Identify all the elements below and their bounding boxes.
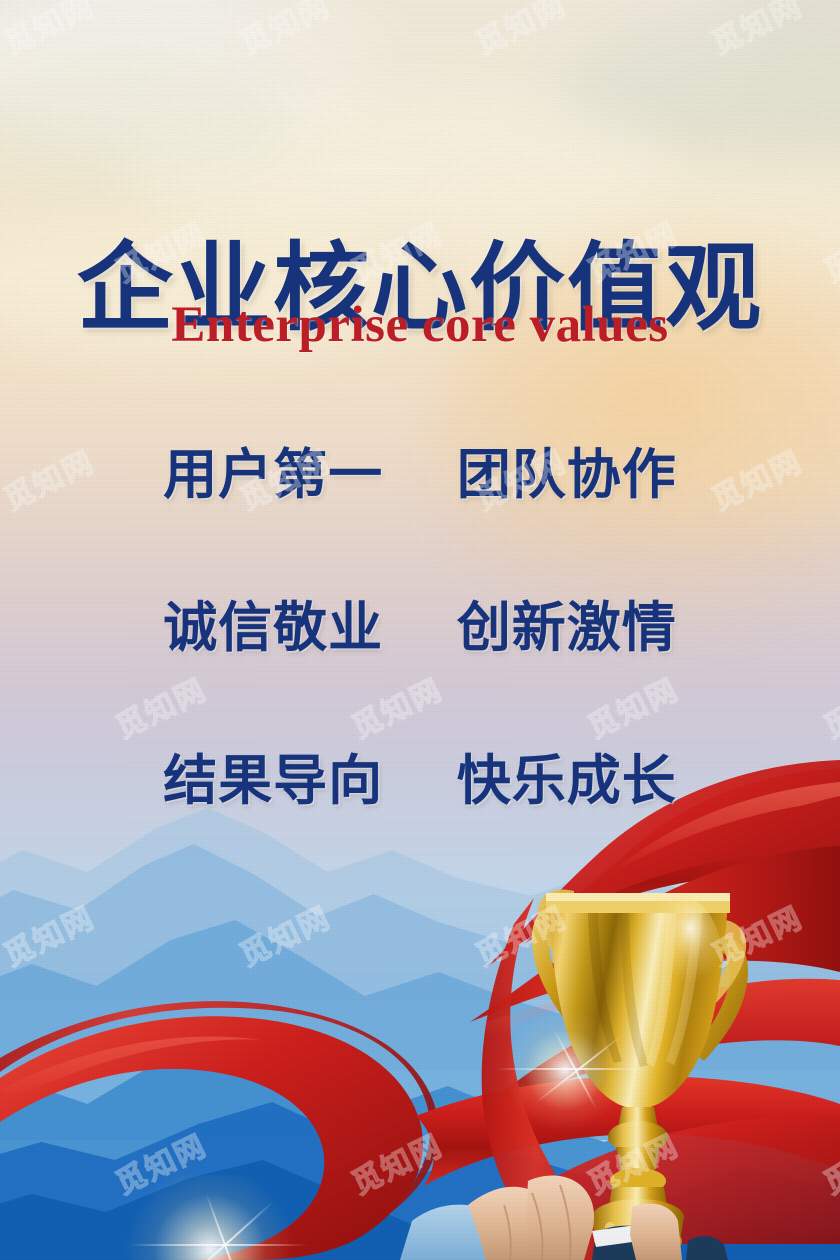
value-row: 结果导向 快乐成长 [0, 736, 840, 815]
value-item: 团队协作 [457, 443, 677, 506]
page-subtitle: Enterprise core values [0, 296, 840, 354]
value-item: 快乐成长 [457, 749, 677, 812]
value-item: 诚信敬业 [163, 596, 383, 659]
value-item: 结果导向 [163, 749, 383, 812]
value-row: 用户第一 团队协作 [0, 430, 840, 509]
core-values-list: 用户第一 团队协作 诚信敬业 创新激情 结果导向 快乐成长 [0, 430, 840, 815]
value-item: 创新激情 [457, 596, 677, 659]
poster-canvas: 企业核心价值观 Enterprise core values 用户第一 团队协作… [0, 0, 840, 1260]
value-row: 诚信敬业 创新激情 [0, 583, 840, 662]
value-item: 用户第一 [163, 443, 383, 506]
poster-text-content: 企业核心价值观 Enterprise core values 用户第一 团队协作… [0, 0, 840, 1260]
